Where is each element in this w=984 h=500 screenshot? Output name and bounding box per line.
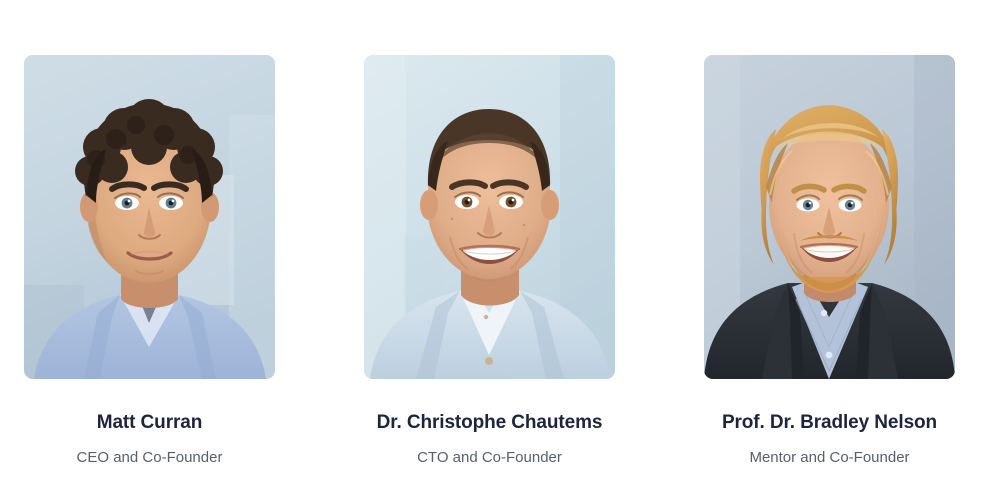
portrait-matt-curran (24, 55, 275, 379)
team-member-card[interactable]: Dr. Christophe Chautems CTO and Co-Found… (364, 55, 615, 467)
team-member-card[interactable]: Prof. Dr. Bradley Nelson Mentor and Co-F… (704, 55, 955, 467)
portrait-christophe-chautems (364, 55, 615, 379)
member-role: CEO and Co-Founder (77, 449, 223, 467)
portrait-bradley-nelson (704, 55, 955, 379)
member-role: CTO and Co-Founder (417, 449, 562, 467)
team-member-card[interactable]: Matt Curran CEO and Co-Founder (24, 55, 275, 467)
member-name: Prof. Dr. Bradley Nelson (722, 412, 937, 435)
team-members-section: Matt Curran CEO and Co-Founder (0, 0, 984, 500)
member-role: Mentor and Co-Founder (749, 449, 909, 467)
member-name: Dr. Christophe Chautems (377, 412, 603, 435)
member-name: Matt Curran (97, 412, 203, 435)
